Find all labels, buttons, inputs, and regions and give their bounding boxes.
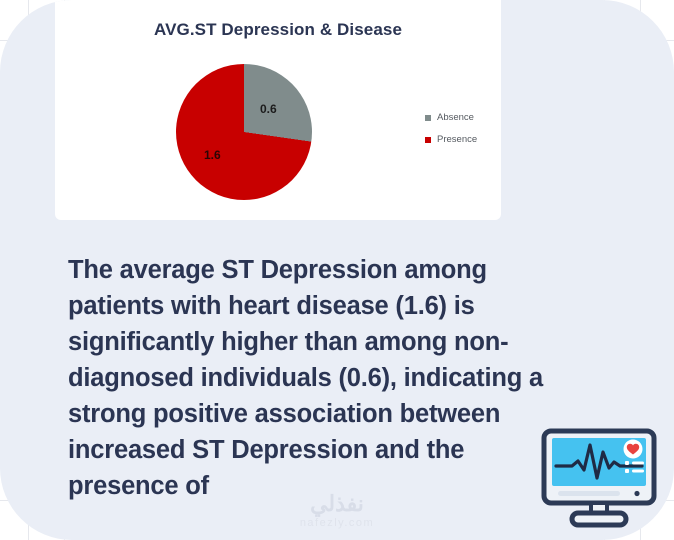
legend-swatch-absence xyxy=(425,115,431,121)
insight-paragraph: The average ST Depression among patients… xyxy=(68,252,576,504)
pie-chart[interactable]: 0.6 1.6 xyxy=(176,64,312,200)
slide-card: AVG.ST Depression & Disease 0.6 1.6 Abse… xyxy=(0,0,674,540)
chart-title: AVG.ST Depression & Disease xyxy=(55,20,501,40)
legend-label-presence: Presence xyxy=(437,134,477,145)
chart-panel: AVG.ST Depression & Disease 0.6 1.6 Abse… xyxy=(55,0,501,220)
pie-label-absence: 0.6 xyxy=(260,102,277,116)
pie-label-presence: 1.6 xyxy=(204,148,221,162)
chart-legend: Absence Presence xyxy=(425,112,505,156)
pie-slices[interactable] xyxy=(176,64,312,200)
heart-monitor-icon xyxy=(540,428,658,532)
legend-item-presence[interactable]: Presence xyxy=(425,134,505,145)
legend-label-absence: Absence xyxy=(437,112,474,123)
legend-swatch-presence xyxy=(425,137,431,143)
legend-item-absence[interactable]: Absence xyxy=(425,112,505,123)
